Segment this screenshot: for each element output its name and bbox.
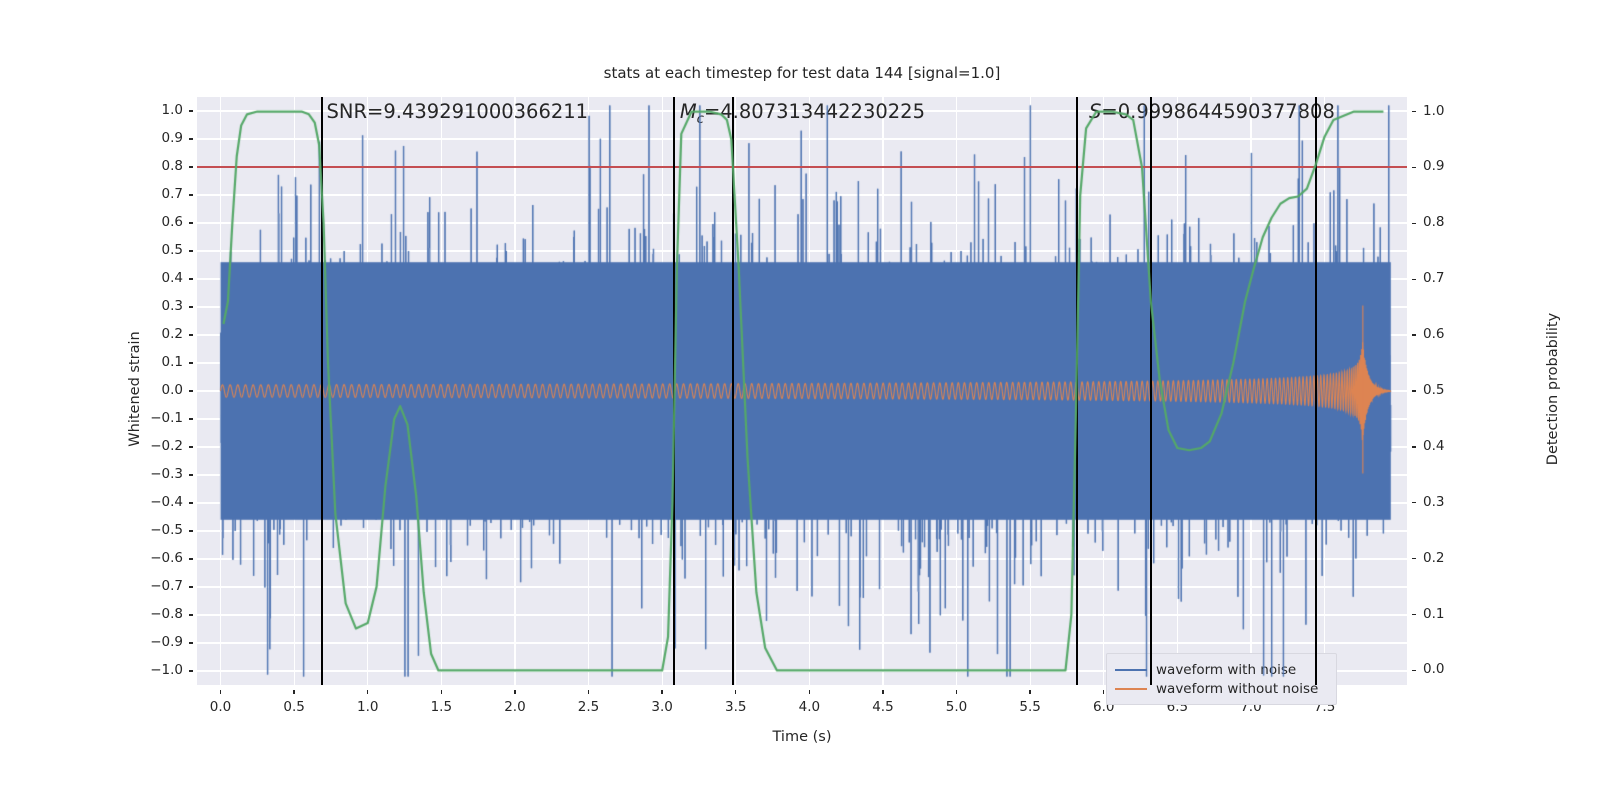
y-axis-left-tick-label: 0.8 — [0, 158, 183, 174]
x-axis-tickmark — [367, 690, 368, 694]
y-axis-left-tickmark — [189, 334, 193, 335]
x-axis-tickmark — [588, 690, 589, 694]
y-axis-left-tick-label: −0.1 — [0, 410, 183, 426]
y-axis-right-tickmark — [1412, 279, 1416, 280]
y-axis-right-tick-label: 0.4 — [1423, 438, 1444, 454]
y-axis-left-tick-label: 0.2 — [0, 326, 183, 342]
y-axis-left-tick-label: 0.4 — [0, 270, 183, 286]
x-axis-tickmark — [1103, 690, 1104, 694]
x-axis-tick-label: 2.5 — [559, 699, 619, 715]
y-axis-left-tickmark — [189, 502, 193, 503]
y-axis-left-tickmark — [189, 474, 193, 475]
y-axis-left-tick-label: −0.9 — [0, 634, 183, 650]
x-axis-tick-label: 3.5 — [706, 699, 766, 715]
y-axis-right-tickmark — [1412, 614, 1416, 615]
y-axis-right-label: Detection probability — [1545, 313, 1561, 465]
x-axis-tickmark — [441, 690, 442, 694]
x-axis-tickmark — [220, 690, 221, 694]
y-axis-right-tickmark — [1412, 502, 1416, 503]
y-axis-right-tick-label: 0.1 — [1423, 606, 1444, 622]
y-axis-left-tick-label: 0.0 — [0, 382, 183, 398]
x-axis-tick-label: 2.0 — [485, 699, 545, 715]
detection-probability-series — [197, 97, 1407, 685]
matplotlib-figure: stats at each timestep for test data 144… — [0, 0, 1600, 800]
y-axis-left-tickmark — [189, 670, 193, 671]
y-axis-left-tickmark — [189, 418, 193, 419]
y-axis-right-tick-label: 0.9 — [1423, 158, 1444, 174]
legend-line-swatch-orange — [1115, 688, 1147, 690]
y-axis-right-tick-label: 0.7 — [1423, 270, 1444, 286]
y-axis-left-tickmark — [189, 586, 193, 587]
y-axis-left-tick-label: −0.3 — [0, 466, 183, 482]
x-axis-tickmark — [809, 690, 810, 694]
y-axis-left-tickmark — [189, 278, 193, 279]
x-axis-tick-label: 0.5 — [264, 699, 324, 715]
y-axis-right-tick-label: 0.6 — [1423, 326, 1444, 342]
y-axis-left-tickmark — [189, 390, 193, 391]
y-axis-left-tickmark — [189, 222, 193, 223]
y-axis-right-tick-label: 0.0 — [1423, 661, 1444, 677]
x-axis-tickmark — [956, 690, 957, 694]
x-axis-tick-label: 1.0 — [338, 699, 398, 715]
y-axis-left-tickmark — [189, 446, 193, 447]
y-axis-right-tickmark — [1412, 111, 1416, 112]
y-axis-right-tickmark — [1412, 223, 1416, 224]
y-axis-left-tickmark — [189, 138, 193, 139]
y-axis-left-tickmark — [189, 558, 193, 559]
x-axis-tickmark — [1029, 690, 1030, 694]
x-axis-tickmark — [293, 690, 294, 694]
y-axis-left-tick-label: −0.8 — [0, 606, 183, 622]
x-axis-tick-label: 1.5 — [411, 699, 471, 715]
y-axis-right-tickmark — [1412, 390, 1416, 391]
y-axis-right-tick-label: 0.2 — [1423, 550, 1444, 566]
y-axis-left-tick-label: 0.1 — [0, 354, 183, 370]
y-axis-left-tick-label: 1.0 — [0, 102, 183, 118]
y-axis-right-tickmark — [1412, 670, 1416, 671]
x-axis-tickmark — [735, 690, 736, 694]
x-axis-tick-label: 4.0 — [779, 699, 839, 715]
y-axis-left-tickmark — [189, 194, 193, 195]
y-axis-left-tick-label: 0.9 — [0, 130, 183, 146]
y-axis-left-tickmark — [189, 110, 193, 111]
y-axis-left-tickmark — [189, 250, 193, 251]
y-axis-right-tick-label: 1.0 — [1423, 103, 1444, 119]
y-axis-left-label: Whitened strain — [127, 309, 143, 469]
y-axis-right-tickmark — [1412, 334, 1416, 335]
y-axis-left-tickmark — [189, 614, 193, 615]
y-axis-left-tick-label: −0.2 — [0, 438, 183, 454]
x-axis-tick-label: 5.5 — [1000, 699, 1060, 715]
x-axis-tickmark — [882, 690, 883, 694]
x-axis-tickmark — [514, 690, 515, 694]
x-axis-tick-label: 3.0 — [632, 699, 692, 715]
plot-axes — [197, 97, 1407, 685]
y-axis-left-tick-label: −0.4 — [0, 494, 183, 510]
y-axis-left-tickmark — [189, 306, 193, 307]
x-axis-tick-label: 4.5 — [853, 699, 913, 715]
y-axis-left-tick-label: −1.0 — [0, 662, 183, 678]
y-axis-left-tickmark — [189, 166, 193, 167]
page-title: stats at each timestep for test data 144… — [197, 64, 1407, 82]
y-axis-left-tickmark — [189, 642, 193, 643]
y-axis-right-tickmark — [1412, 446, 1416, 447]
y-axis-left-tick-label: 0.7 — [0, 186, 183, 202]
x-axis-tick-label: 0.0 — [191, 699, 251, 715]
x-axis-label: Time (s) — [197, 729, 1407, 745]
y-axis-left-tick-label: −0.6 — [0, 550, 183, 566]
x-axis-tickmark — [661, 690, 662, 694]
y-axis-left-tickmark — [189, 362, 193, 363]
y-axis-left-tickmark — [189, 530, 193, 531]
y-axis-right-tickmark — [1412, 558, 1416, 559]
y-axis-right-tickmark — [1412, 167, 1416, 168]
y-axis-left-tick-label: 0.6 — [0, 214, 183, 230]
y-axis-right-tick-label: 0.3 — [1423, 494, 1444, 510]
y-axis-left-tick-label: 0.5 — [0, 242, 183, 258]
y-axis-right-tick-label: 0.8 — [1423, 214, 1444, 230]
x-axis-tick-label: 5.0 — [927, 699, 987, 715]
y-axis-left-tick-label: −0.5 — [0, 522, 183, 538]
y-axis-left-tick-label: −0.7 — [0, 578, 183, 594]
y-axis-left-tick-label: 0.3 — [0, 298, 183, 314]
y-axis-right-tick-label: 0.5 — [1423, 382, 1444, 398]
